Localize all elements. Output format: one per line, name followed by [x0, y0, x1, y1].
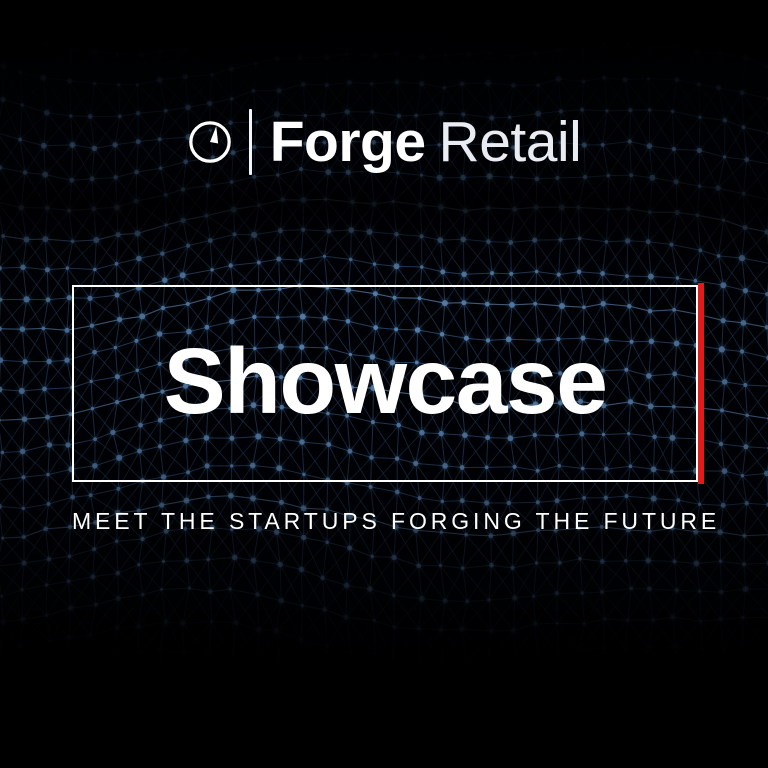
page-title: Showcase: [164, 335, 607, 428]
brand-name-primary: Forge: [270, 114, 426, 171]
compass-dial-icon: [187, 119, 233, 165]
brand-wordmark: Forge Retail: [0, 104, 768, 180]
brand-divider: [249, 109, 252, 175]
brand-name-secondary: Retail: [439, 114, 582, 171]
title-accent-bar: [698, 283, 704, 484]
tagline: MEET THE STARTUPS FORGING THE FUTURE: [72, 508, 704, 536]
title-frame: Showcase: [72, 285, 698, 482]
showcase-title-slide: Forge Retail Showcase MEET THE STARTUPS …: [0, 0, 768, 768]
